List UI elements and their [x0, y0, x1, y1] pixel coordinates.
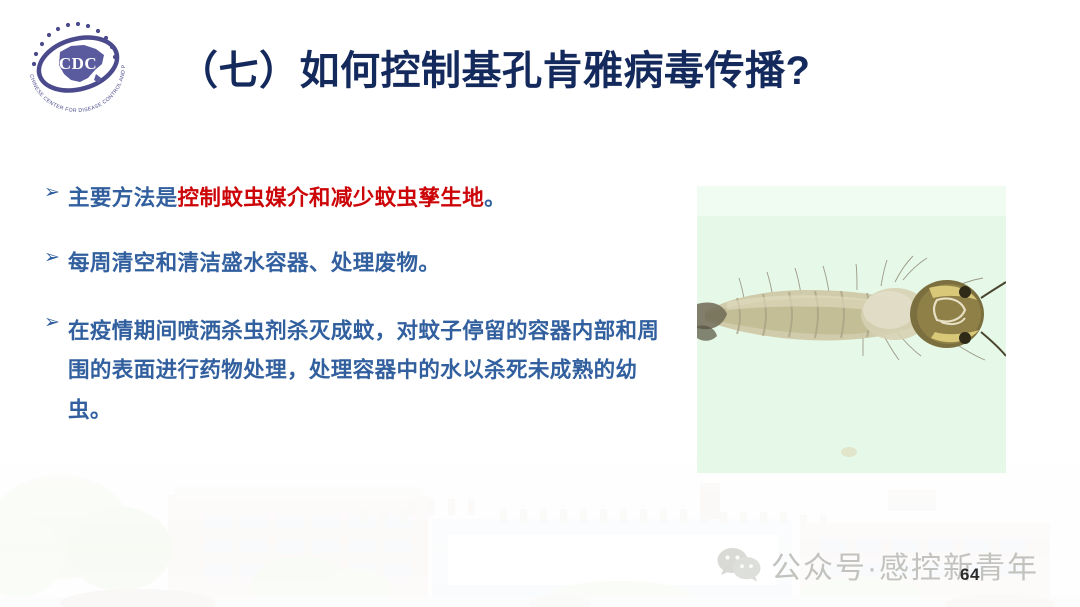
bullet-item-3: ➢ 在疫情期间喷洒杀虫剂杀灭成蚊，对蚊子停留的容器内部和周围的表面进行药物处理，… [44, 312, 674, 429]
bullet-1-segment-2-highlight: 控制蚊虫媒介和减少蚊虫孳生地 [178, 186, 485, 210]
wechat-icon [716, 546, 762, 584]
bullet-arrow-icon: ➢ [44, 313, 60, 332]
wechat-watermark: 公众号·感控新青年 [716, 543, 1039, 587]
svg-text:CDC: CDC [59, 54, 97, 73]
bullet-item-1-text: 主要方法是控制蚊虫媒介和减少蚊虫孳生地。 [68, 182, 674, 215]
bullet-1-segment-1: 主要方法是 [68, 186, 178, 210]
wechat-account-label: 公众号·感控新青年 [771, 543, 1039, 587]
bullet-item-1: ➢ 主要方法是控制蚊虫媒介和减少蚊虫孳生地。 [44, 182, 674, 215]
bullet-item-2: ➢ 每周清空和清洁盛水容器、处理废物。 [44, 247, 674, 280]
mosquito-larva-photo [697, 186, 1006, 473]
china-cdc-logo: CDC CHINESE CENTER FOR DISEASE CONTROL A… [16, 8, 138, 120]
slide-title: （七）如何控制基孔肯雅病毒传播? [178, 48, 810, 94]
bullet-item-2-text: 每周清空和清洁盛水容器、处理废物。 [68, 247, 674, 280]
bullet-arrow-icon: ➢ [44, 248, 60, 267]
bullet-item-3-text: 在疫情期间喷洒杀虫剂杀灭成蚊，对蚊子停留的容器内部和周围的表面进行药物处理，处理… [68, 312, 674, 429]
watermark-fade-overlay [0, 457, 1080, 607]
bullet-arrow-icon: ➢ [44, 183, 60, 202]
slide-canvas: CDC CHINESE CENTER FOR DISEASE CONTROL A… [0, 0, 1080, 607]
bullet-1-segment-3: 。 [484, 186, 506, 210]
bullet-list: ➢ 主要方法是控制蚊虫媒介和减少蚊虫孳生地。 ➢ 每周清空和清洁盛水容器、处理废… [44, 182, 674, 430]
campus-background-watermark [0, 457, 1080, 607]
page-number: 64 [960, 565, 980, 585]
